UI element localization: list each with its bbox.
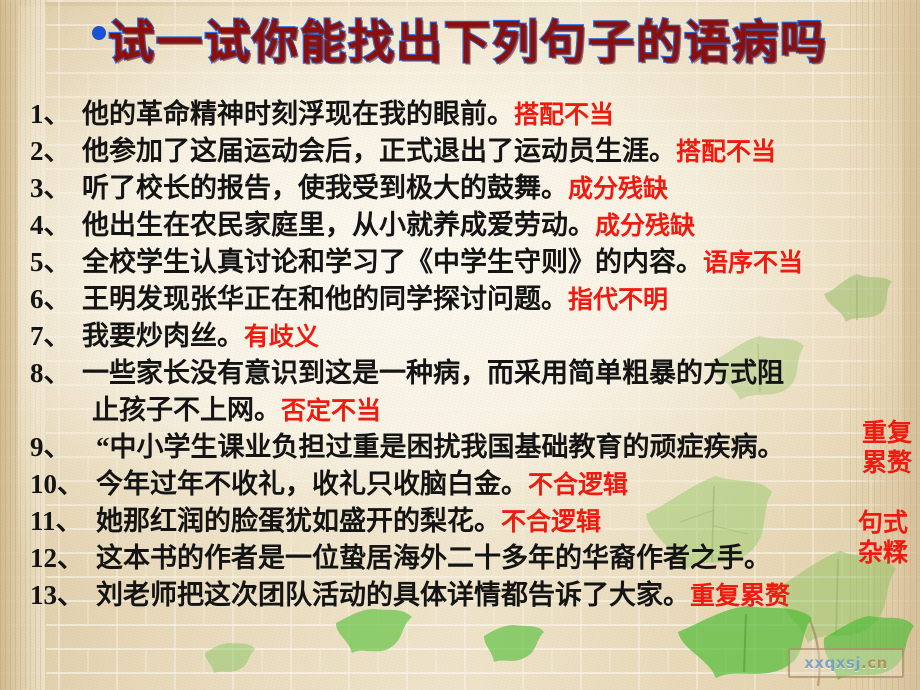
annotation-block-mixed-structure: 句式 杂糅 xyxy=(858,508,908,568)
item-number: 5、 xyxy=(30,244,82,281)
list-item: 12、这本书的作者是一位蛰居海外二十多年的华裔作者之手。 xyxy=(30,540,910,577)
item-annotation: 成分残缺 xyxy=(595,211,695,240)
item-number: 12、 xyxy=(30,540,96,577)
annotation-line: 重复 xyxy=(862,418,912,448)
list-item: 1、他的革命精神时刻浮现在我的眼前。搭配不当 xyxy=(30,96,910,133)
item-sentence: “中小学生课业负担过重是困扰我国基础教育的顽症疾病。 xyxy=(96,432,785,462)
item-number: 7、 xyxy=(30,318,82,355)
item-number: 6、 xyxy=(30,281,82,318)
list-item: 6、王明发现张华正在和他的同学探讨问题。指代不明 xyxy=(30,281,910,318)
item-number: 9、 xyxy=(30,429,96,466)
watermark-name: xxqxsj xyxy=(804,654,861,672)
list-item: 5、全校学生认真讨论和学习了《中学生守则》的内容。语序不当 xyxy=(30,244,910,281)
item-sentence: 他参加了这届运动会后，正式退出了运动员生涯。 xyxy=(82,136,676,166)
item-annotation: 搭配不当 xyxy=(676,137,776,166)
item-number: 4、 xyxy=(30,207,82,244)
list-item: 7、我要炒肉丝。有歧义 xyxy=(30,318,910,355)
item-sentence: 她那红润的脸蛋犹如盛开的梨花。 xyxy=(96,506,501,536)
list-item: 3、听了校长的报告，使我受到极大的鼓舞。成分残缺 xyxy=(30,170,910,207)
list-item: 4、他出生在农民家庭里，从小就养成爱劳动。成分残缺 xyxy=(30,207,910,244)
item-sentence: 我要炒肉丝。 xyxy=(82,321,244,351)
item-sentence: 他的革命精神时刻浮现在我的眼前。 xyxy=(82,99,514,129)
annotation-line: 杂糅 xyxy=(858,538,908,568)
item-annotation: 否定不当 xyxy=(281,396,381,425)
item-number: 13、 xyxy=(30,577,96,614)
watermark-domain: .cn xyxy=(861,654,888,672)
site-watermark-logo: xxqxsj.cn xyxy=(788,648,904,678)
item-sentence: 今年过年不收礼，收礼只收脑白金。 xyxy=(96,469,528,499)
bullet-dot-icon xyxy=(92,26,106,40)
list-item: 9、“中小学生课业负担过重是困扰我国基础教育的顽症疾病。 xyxy=(30,429,910,466)
item-number: 2、 xyxy=(30,133,82,170)
item-sentence: 这本书的作者是一位蛰居海外二十多年的华裔作者之手。 xyxy=(96,543,771,573)
annotation-line: 句式 xyxy=(858,508,908,538)
list-item-continuation: 止孩子不上网。否定不当 xyxy=(30,392,910,429)
list-item: 10、今年过年不收礼，收礼只收脑白金。不合逻辑 xyxy=(30,466,910,503)
sentence-list: 1、他的革命精神时刻浮现在我的眼前。搭配不当 2、他参加了这届运动会后，正式退出… xyxy=(30,96,910,614)
item-annotation: 成分残缺 xyxy=(568,174,668,203)
annotation-line: 累赘 xyxy=(862,448,912,478)
annotation-block-repeat-redundant: 重复 累赘 xyxy=(862,418,912,478)
item-number: 1、 xyxy=(30,96,82,133)
item-annotation: 指代不明 xyxy=(568,285,668,314)
item-annotation: 语序不当 xyxy=(703,248,803,277)
presentation-slide: 试一试你能找出下列句子的语病吗 1、他的革命精神时刻浮现在我的眼前。搭配不当 2… xyxy=(0,0,920,690)
slide-title: 试一试你能找出下列句子的语病吗 xyxy=(0,6,920,72)
item-sentence: 刘老师把这次团队活动的具体详情都告诉了大家。 xyxy=(96,580,690,610)
item-number: 11、 xyxy=(30,503,96,540)
item-sentence: 全校学生认真讨论和学习了《中学生守则》的内容。 xyxy=(82,247,703,277)
item-annotation: 有歧义 xyxy=(244,322,319,351)
list-item: 11、她那红润的脸蛋犹如盛开的梨花。不合逻辑 xyxy=(30,503,910,540)
item-annotation: 不合逻辑 xyxy=(501,507,601,536)
item-sentence: 他出生在农民家庭里，从小就养成爱劳动。 xyxy=(82,210,595,240)
list-item: 13、刘老师把这次团队活动的具体详情都告诉了大家。重复累赘 xyxy=(30,577,910,614)
item-annotation: 重复累赘 xyxy=(690,581,790,610)
item-sentence: 一些家长没有意识到这是一种病，而采用简单粗暴的方式阻 xyxy=(82,358,784,388)
page-title: 试一试你能找出下列句子的语病吗 xyxy=(108,6,828,72)
item-number: 10、 xyxy=(30,466,96,503)
list-item: 8、一些家长没有意识到这是一种病，而采用简单粗暴的方式阻 xyxy=(30,355,910,392)
item-sentence: 听了校长的报告，使我受到极大的鼓舞。 xyxy=(82,173,568,203)
watermark-text: xxqxsj.cn xyxy=(804,654,888,672)
item-number: 8、 xyxy=(30,355,82,392)
item-sentence-wrap: 止孩子不上网。 xyxy=(92,395,281,425)
item-sentence: 王明发现张华正在和他的同学探讨问题。 xyxy=(82,284,568,314)
item-number: 3、 xyxy=(30,170,82,207)
item-annotation: 不合逻辑 xyxy=(528,470,628,499)
list-item: 2、他参加了这届运动会后，正式退出了运动员生涯。搭配不当 xyxy=(30,133,910,170)
item-annotation: 搭配不当 xyxy=(514,100,614,129)
